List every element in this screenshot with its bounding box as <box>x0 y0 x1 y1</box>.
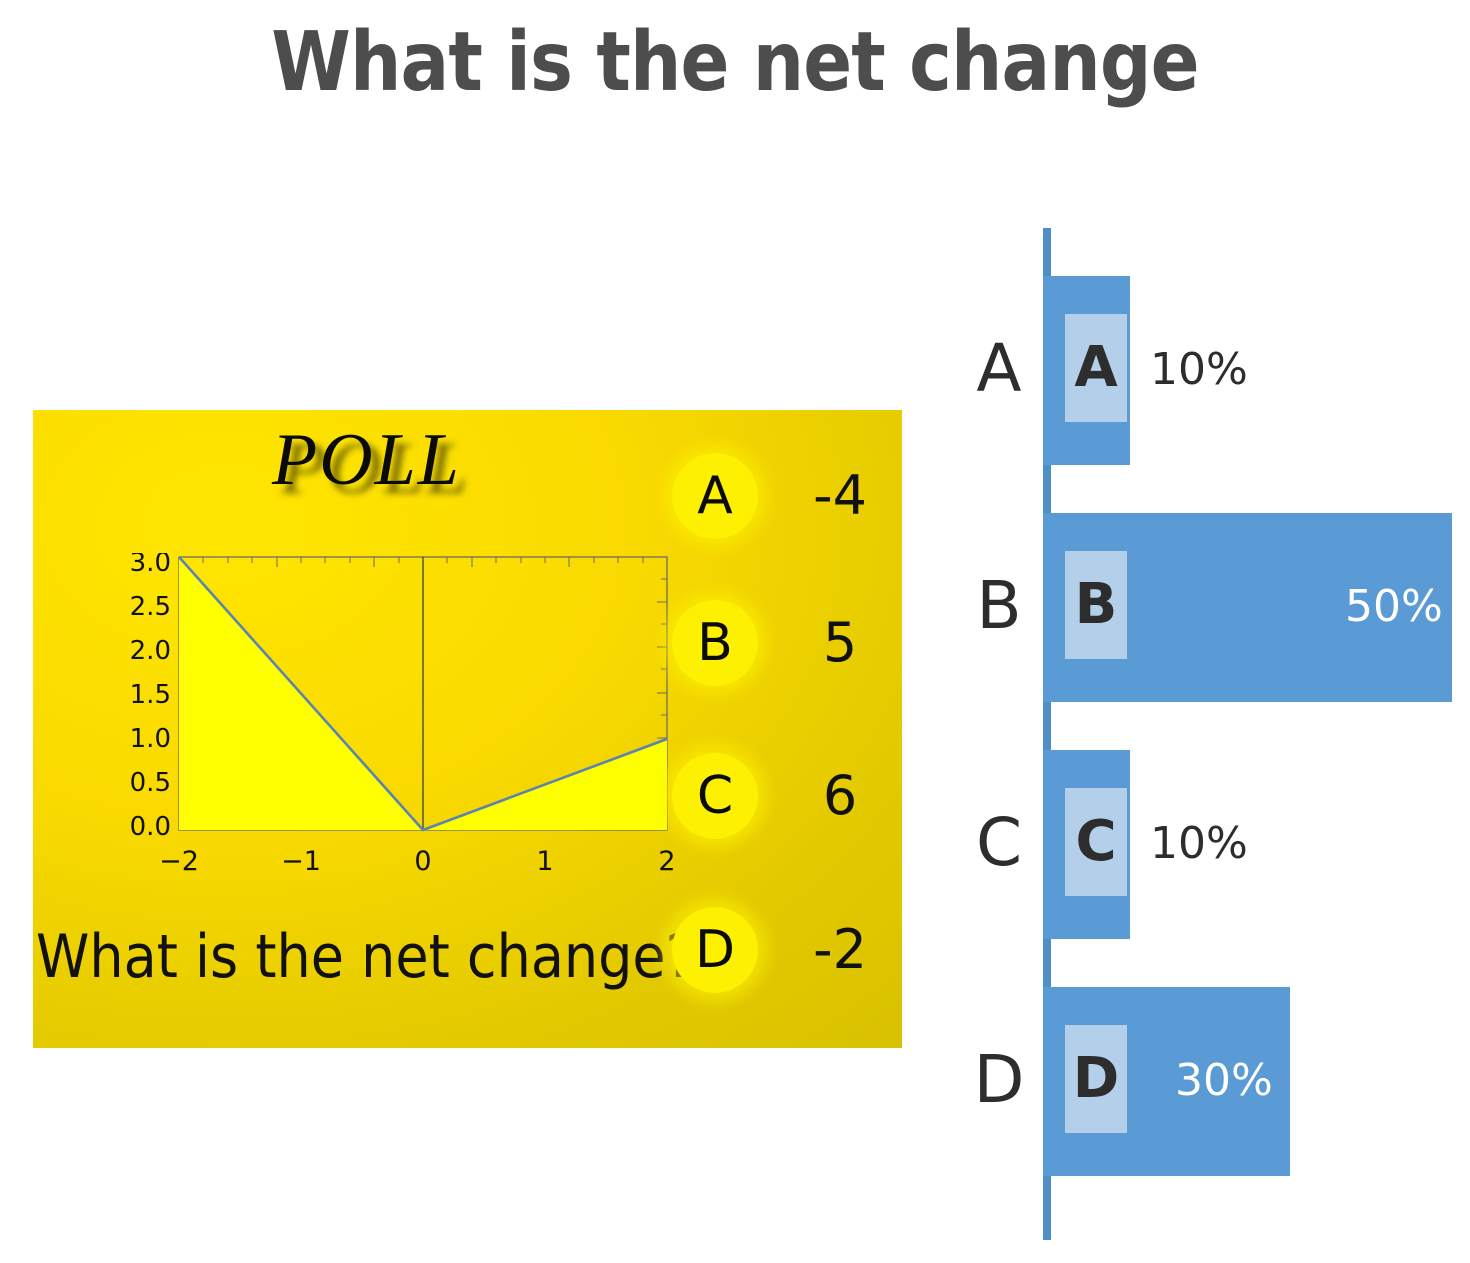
option-bubble-a[interactable]: A <box>672 453 758 539</box>
svg-text:0: 0 <box>414 846 431 877</box>
svg-text:2: 2 <box>658 846 675 877</box>
svg-text:1.5: 1.5 <box>130 680 171 710</box>
option-value-c: 6 <box>780 753 900 839</box>
page-title: What is the net change <box>88 22 1382 104</box>
result-inner-letter-b: B <box>1065 551 1127 659</box>
result-row-d[interactable]: D D 30% <box>960 921 1470 1181</box>
result-row-b[interactable]: B B 50% <box>960 447 1470 707</box>
poll-heading: POLL <box>272 418 461 503</box>
result-row-c[interactable]: C C 10% <box>960 684 1470 944</box>
svg-text:0.5: 0.5 <box>130 768 171 798</box>
result-pct-b: 50% <box>1345 585 1443 629</box>
option-value-a: -4 <box>780 453 900 539</box>
option-value-b: 5 <box>780 600 900 686</box>
result-row-a[interactable]: A A 10% <box>960 210 1470 470</box>
svg-text:2.0: 2.0 <box>130 636 171 666</box>
option-bubble-c[interactable]: C <box>672 753 758 839</box>
result-inner-letter-d: D <box>1065 1025 1127 1133</box>
result-outer-label-c: C <box>968 810 1030 876</box>
option-bubble-d[interactable]: D <box>672 907 758 993</box>
svg-text:1: 1 <box>536 846 553 877</box>
poll-inline-chart: 3.0 2.5 2.0 1.5 1.0 0.5 0.0 <box>113 553 683 903</box>
svg-text:3.0: 3.0 <box>130 553 171 578</box>
result-pct-d: 30% <box>1175 1059 1273 1103</box>
svg-text:−2: −2 <box>159 846 199 877</box>
option-value-d: -2 <box>780 907 900 993</box>
poll-question: What is the net change? <box>36 922 694 992</box>
result-outer-label-d: D <box>968 1047 1030 1113</box>
svg-text:2.5: 2.5 <box>130 592 171 622</box>
svg-text:0.0: 0.0 <box>130 812 171 842</box>
result-outer-label-b: B <box>968 573 1030 639</box>
svg-text:−1: −1 <box>281 846 321 877</box>
result-inner-letter-c: C <box>1065 788 1127 896</box>
option-bubble-b[interactable]: B <box>672 600 758 686</box>
result-pct-a: 10% <box>1150 348 1248 392</box>
result-inner-letter-a: A <box>1065 314 1127 422</box>
svg-text:1.0: 1.0 <box>130 724 171 754</box>
result-outer-label-a: A <box>968 336 1030 402</box>
results-bar-chart: A A 10% B B 50% C C 10% D D 30% <box>960 210 1470 1255</box>
result-pct-c: 10% <box>1150 822 1248 866</box>
